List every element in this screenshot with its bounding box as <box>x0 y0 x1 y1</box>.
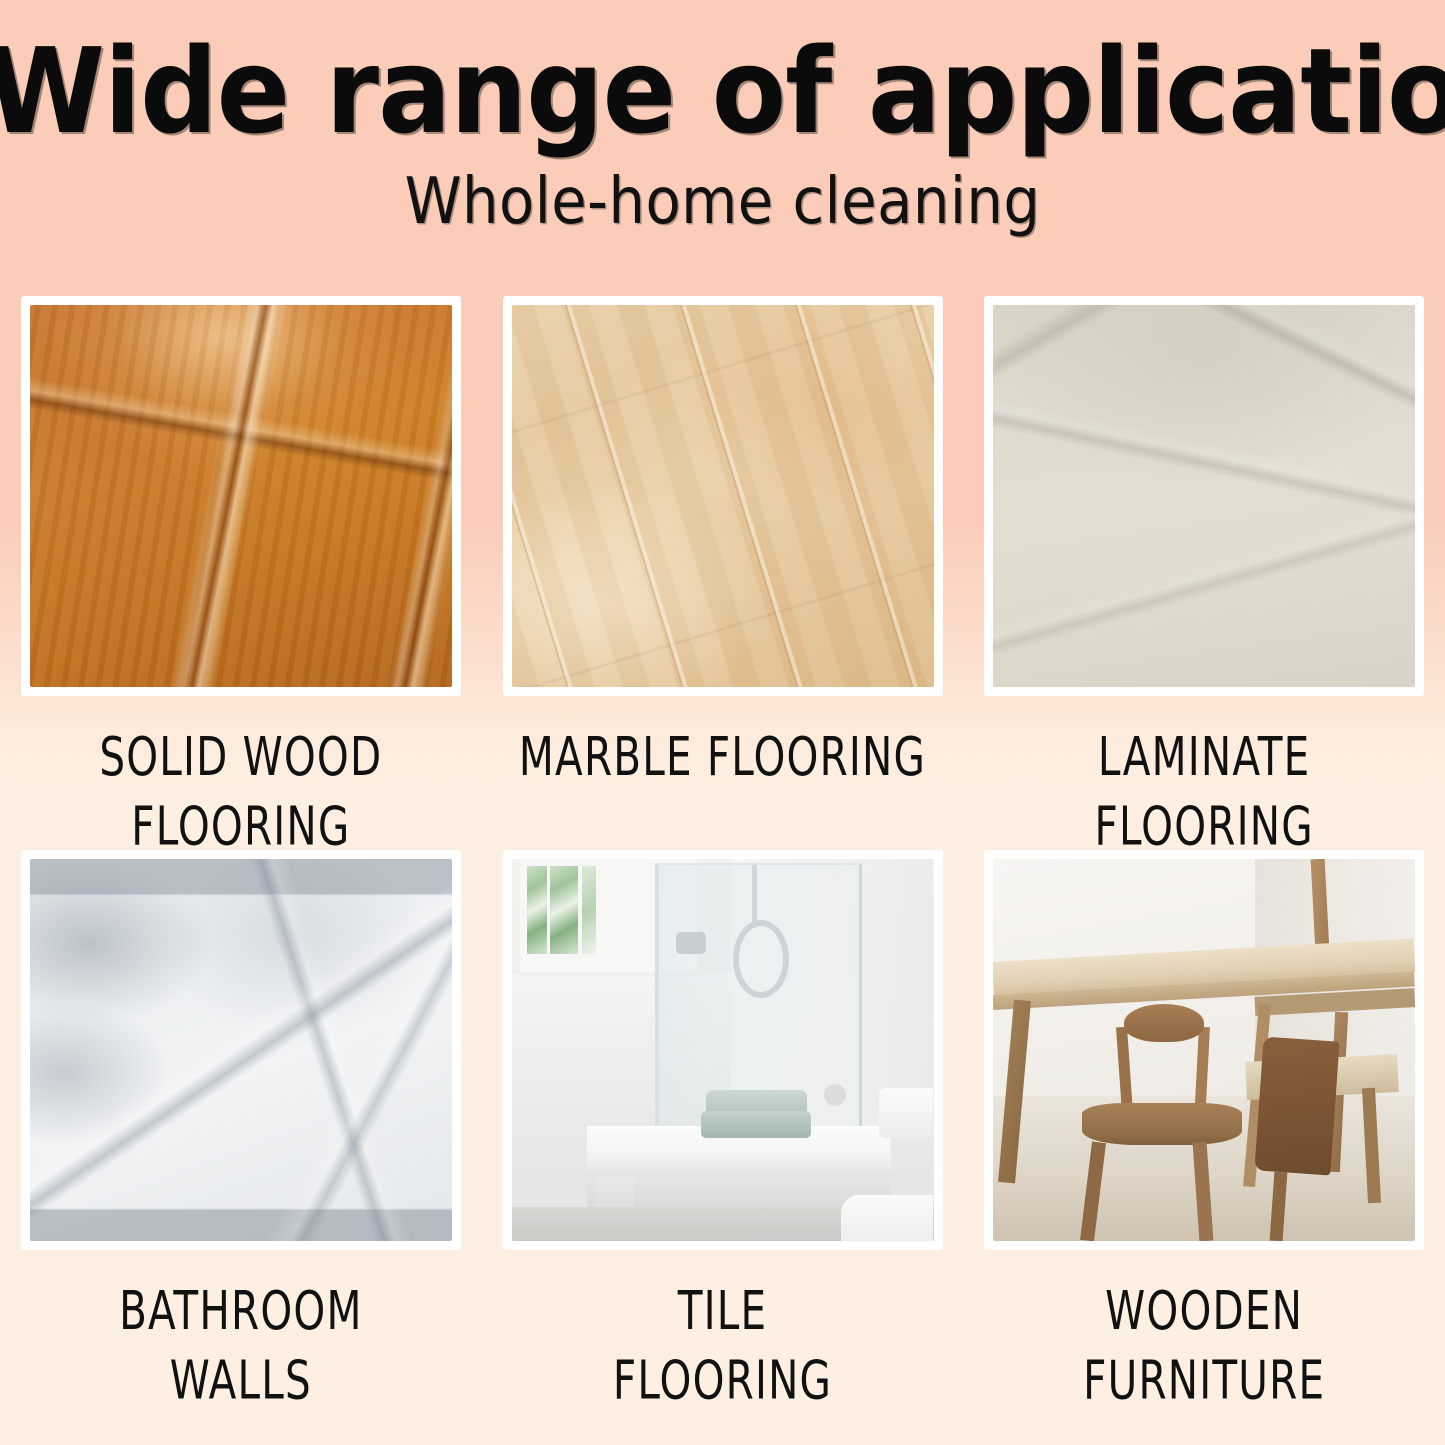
tile-tile-flooring[interactable]: TILE FLOORING <box>482 850 964 1416</box>
bathtub-edge <box>841 1195 934 1241</box>
folded-towel <box>701 1111 811 1138</box>
caption-line: MARBLE FLOORING <box>519 722 926 792</box>
caption-line: FLOORING <box>99 792 382 862</box>
caption-line: LAMINATE <box>1095 722 1314 792</box>
window-pane <box>527 866 546 954</box>
marble-flooring-photo <box>512 305 934 687</box>
chair-backrest <box>1124 1004 1204 1042</box>
page-header: Wide range of applications Whole-home cl… <box>0 0 1445 234</box>
window-pane <box>582 866 596 954</box>
bathroom-walls-photo <box>30 859 452 1241</box>
wooden-furniture-photo <box>993 859 1415 1241</box>
page-title: Wide range of applications <box>0 34 1445 150</box>
photo-frame <box>503 296 943 696</box>
photo-frame <box>21 850 461 1250</box>
tile-laminate-flooring[interactable]: LAMINATE FLOORING <box>963 296 1445 862</box>
caption-line: SOLID WOOD <box>99 722 382 792</box>
caption-line: TILE <box>613 1276 832 1346</box>
photo-frame <box>503 850 943 1250</box>
tile-bathroom-walls[interactable]: BATHROOM WALLS <box>0 850 482 1416</box>
tile-marble-flooring[interactable]: MARBLE FLOORING <box>482 296 964 862</box>
application-grid: SOLID WOOD FLOORING MARBLE FLOORING LAMI… <box>0 296 1445 1416</box>
tile-caption: BATHROOM WALLS <box>119 1276 363 1416</box>
caption-line: WALLS <box>119 1346 363 1416</box>
chair-backrest <box>1254 1036 1339 1175</box>
caption-line: FLOORING <box>613 1346 832 1416</box>
tile-flooring-photo <box>512 859 934 1241</box>
tile-caption: SOLID WOOD FLOORING <box>99 722 382 862</box>
grid-row-bottom: BATHROOM WALLS <box>0 850 1445 1416</box>
tile-caption: TILE FLOORING <box>613 1276 832 1416</box>
laminate-flooring-photo <box>993 305 1415 687</box>
tile-wooden-furniture[interactable]: WOODEN FURNITURE <box>963 850 1445 1416</box>
toilet-roll <box>879 1088 934 1138</box>
photo-frame <box>21 296 461 696</box>
caption-line: WOODEN <box>1083 1276 1325 1346</box>
caption-line: FURNITURE <box>1083 1346 1325 1416</box>
tile-solid-wood-flooring[interactable]: SOLID WOOD FLOORING <box>0 296 482 862</box>
page-subtitle: Whole-home cleaning <box>0 170 1445 234</box>
caption-line: BATHROOM <box>119 1276 363 1346</box>
grid-row-top: SOLID WOOD FLOORING MARBLE FLOORING LAMI… <box>0 296 1445 862</box>
wall-knob <box>824 1084 846 1106</box>
solid-wood-flooring-photo <box>30 305 452 687</box>
tile-caption: LAMINATE FLOORING <box>1095 722 1314 862</box>
window-pane <box>550 866 578 954</box>
tile-caption: MARBLE FLOORING <box>519 722 926 792</box>
tile-caption: WOODEN FURNITURE <box>1083 1276 1325 1416</box>
chair-seat <box>1082 1103 1242 1145</box>
photo-frame <box>984 850 1424 1250</box>
caption-line: FLOORING <box>1095 792 1314 862</box>
photo-frame <box>984 296 1424 696</box>
